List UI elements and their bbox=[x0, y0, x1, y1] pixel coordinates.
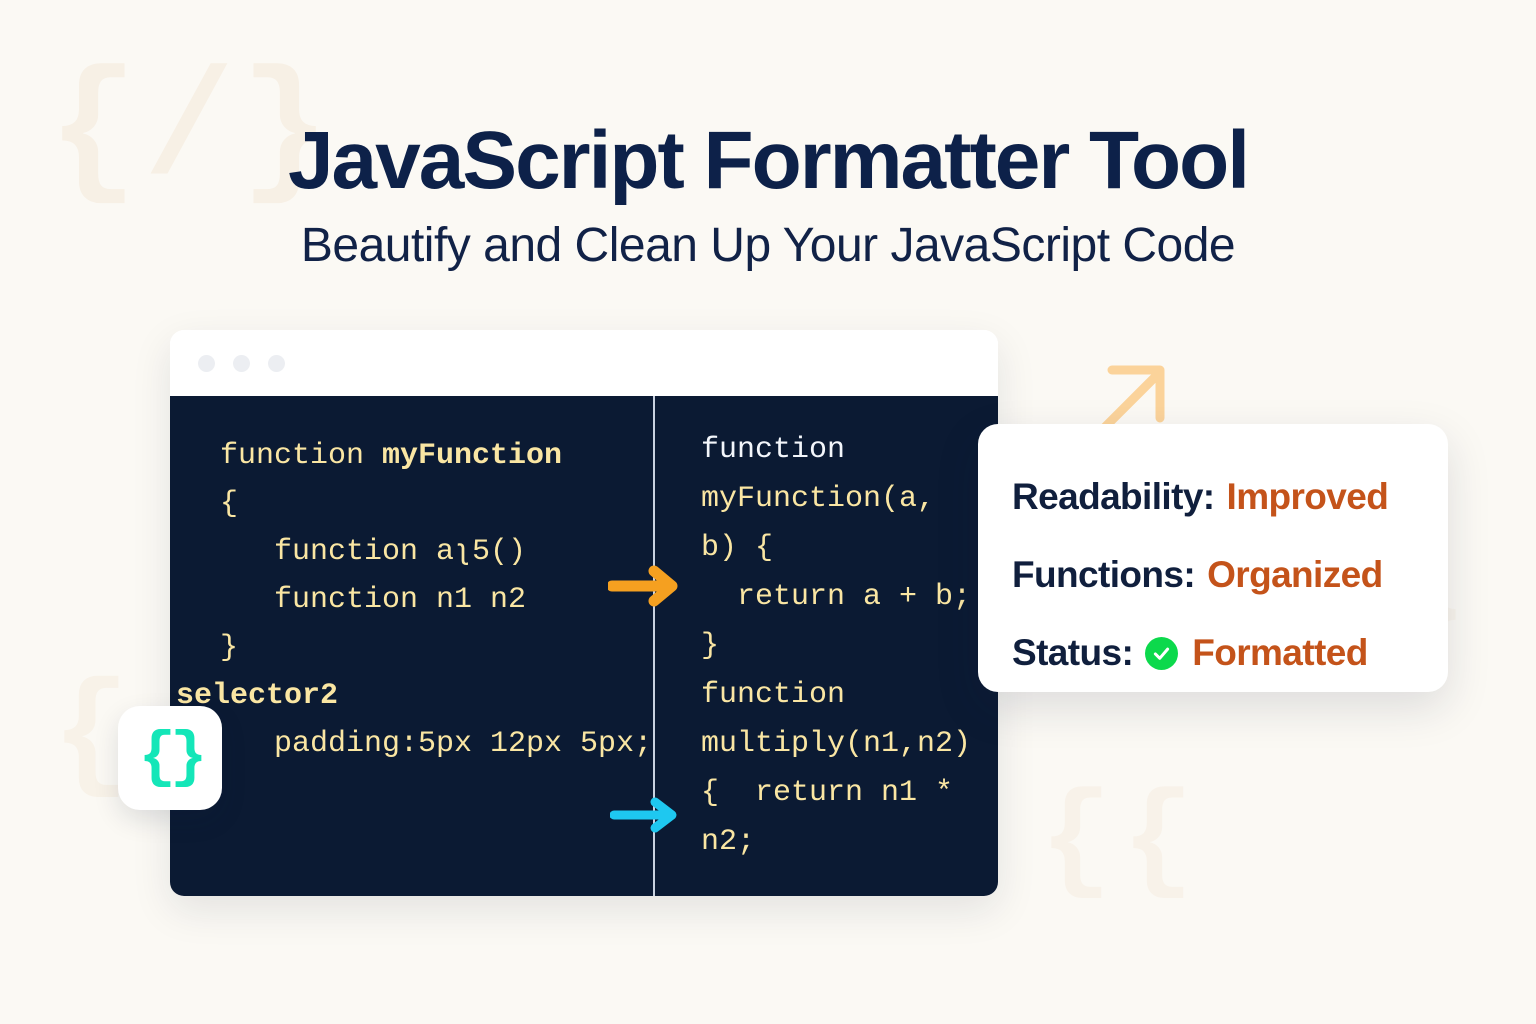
code-line: } bbox=[701, 622, 988, 671]
code-line: } bbox=[220, 624, 643, 672]
code-line: myFunction(a, bbox=[701, 475, 988, 524]
page-header: JavaScript Formatter Tool Beautify and C… bbox=[0, 0, 1536, 273]
code-line: b) { bbox=[701, 524, 988, 573]
code-line: multiply(n1,n2) bbox=[701, 720, 988, 769]
code-line: { bbox=[220, 480, 643, 528]
code-line: return a + b; bbox=[701, 573, 988, 622]
brace-badge-icon: {} bbox=[118, 706, 222, 810]
code-line: function aʅ5() bbox=[220, 528, 643, 576]
code-line: padding:5px 12px 5px; bbox=[220, 720, 643, 768]
traffic-light-maximize-icon[interactable] bbox=[268, 355, 285, 372]
code-line: { return n1 * bbox=[701, 769, 988, 818]
page-title: JavaScript Formatter Tool bbox=[0, 0, 1536, 204]
code-comparison-window: function myFunction { function aʅ5() fun… bbox=[170, 330, 998, 896]
formatted-code-pane[interactable]: function myFunction(a, b) { return a + b… bbox=[653, 396, 998, 896]
info-value-status: Formatted bbox=[1192, 632, 1368, 674]
window-titlebar bbox=[170, 330, 998, 396]
info-label-functions: Functions: bbox=[1012, 554, 1195, 596]
code-line: n2; bbox=[701, 818, 988, 867]
page-subtitle: Beautify and Clean Up Your JavaScript Co… bbox=[0, 204, 1536, 273]
code-line: function bbox=[701, 426, 988, 475]
code-token-function: function bbox=[220, 439, 382, 473]
code-line: function n1 n2 bbox=[220, 576, 643, 624]
info-label-readability: Readability: bbox=[1012, 476, 1215, 518]
traffic-light-close-icon[interactable] bbox=[198, 355, 215, 372]
info-row-readability: Readability: Improved bbox=[1012, 458, 1448, 536]
summary-info-card: Readability: Improved Functions: Organiz… bbox=[978, 424, 1448, 692]
watermark-braces-bottom-right: {{ bbox=[1040, 782, 1204, 902]
unformatted-code-pane[interactable]: function myFunction { function aʅ5() fun… bbox=[170, 396, 653, 896]
pane-divider bbox=[653, 396, 655, 896]
code-line: function bbox=[701, 671, 988, 720]
code-body: function myFunction { function aʅ5() fun… bbox=[170, 396, 998, 896]
info-value-functions: Organized bbox=[1207, 554, 1383, 596]
code-token-myfunction: myFunction bbox=[382, 439, 562, 473]
info-label-status: Status: bbox=[1012, 632, 1133, 674]
info-row-functions: Functions: Organized bbox=[1012, 536, 1448, 614]
traffic-light-minimize-icon[interactable] bbox=[233, 355, 250, 372]
info-value-readability: Improved bbox=[1227, 476, 1389, 518]
brace-glyph: {} bbox=[139, 727, 201, 789]
check-circle-icon bbox=[1145, 637, 1178, 670]
code-line-selector: selector2 bbox=[176, 672, 643, 720]
info-row-status: Status: Formatted bbox=[1012, 614, 1448, 692]
code-line: function myFunction bbox=[220, 432, 643, 480]
